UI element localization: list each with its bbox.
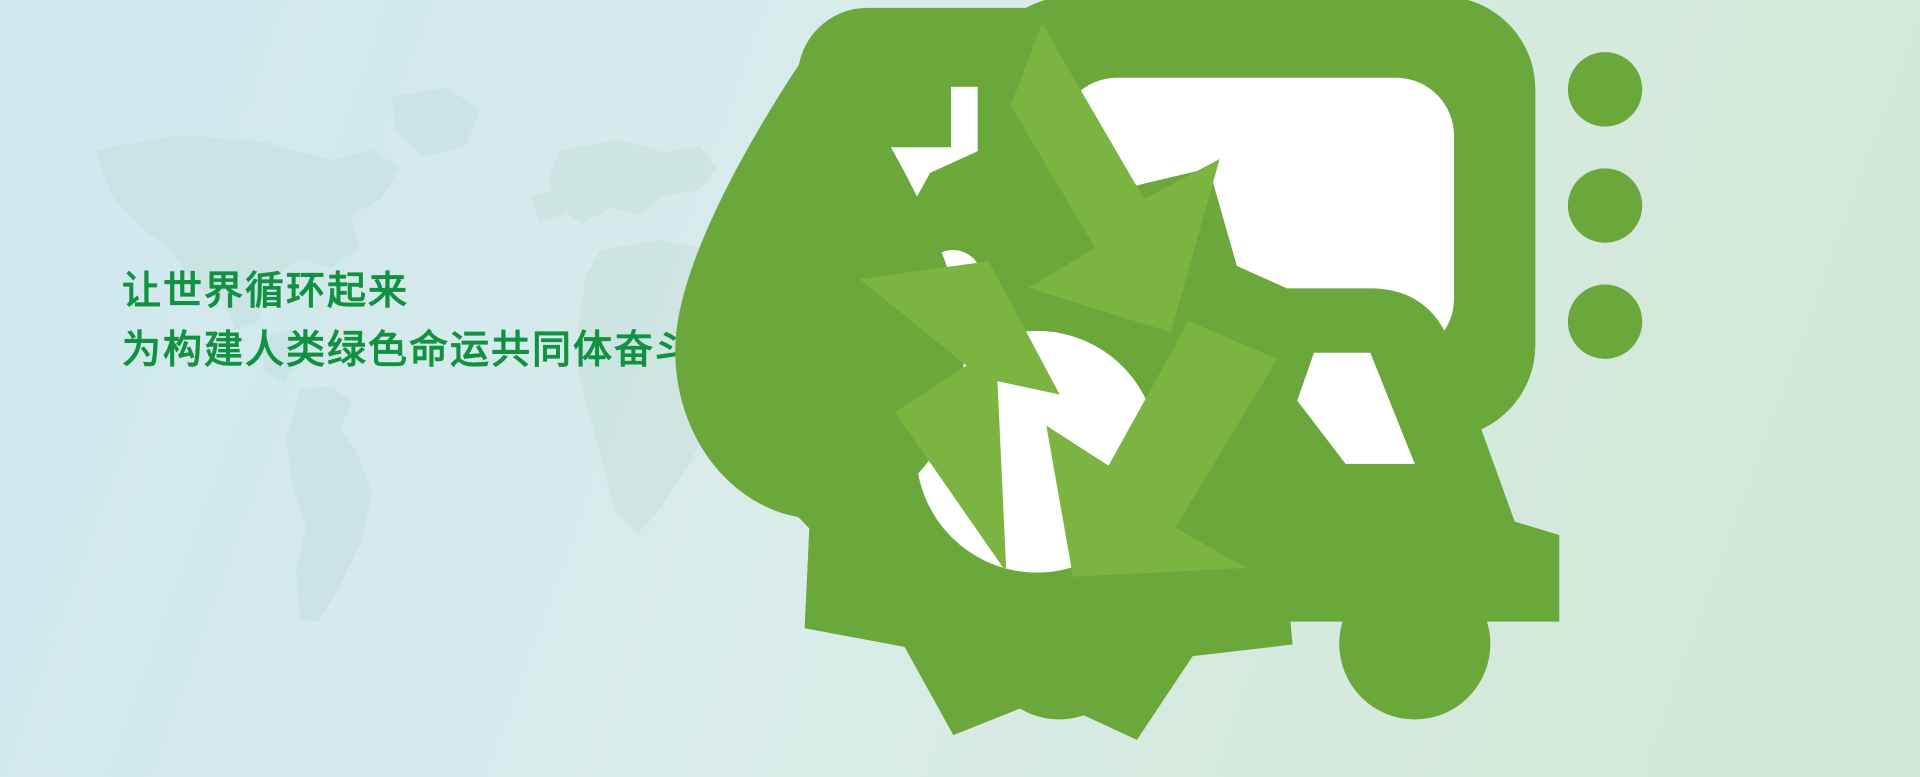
recycle-drop-icon (553, 0, 1353, 674)
recycle-drop-icon-badge (924, 250, 982, 308)
banner-root: 让世界循环起来 为构建人类绿色命运共同体奋斗 (0, 0, 1920, 777)
five-industry-chain-diagram: 废品回收 材料制造 金属材料 绿色电池产品 再利用 废旧电池回收 与动力电池材 … (834, 0, 1634, 777)
